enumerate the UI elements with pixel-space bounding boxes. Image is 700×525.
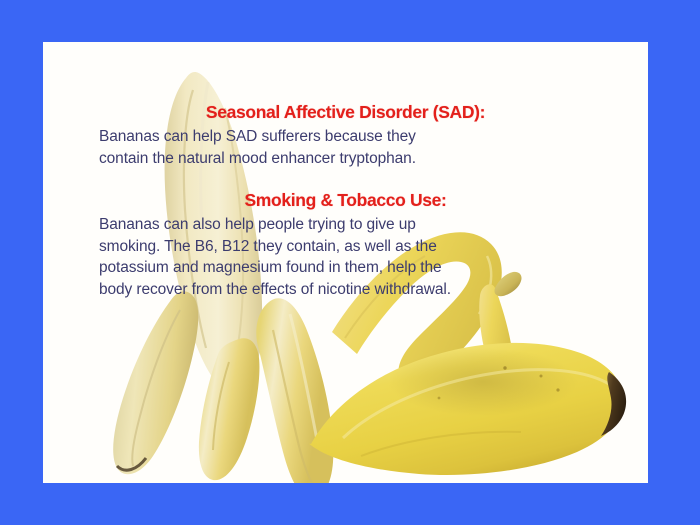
section-heading-sad: Seasonal Affective Disorder (SAD): xyxy=(43,102,648,123)
section-seasonal-affective-disorder: Seasonal Affective Disorder (SAD): Banan… xyxy=(43,102,648,169)
section-body-sad: Bananas can help SAD sufferers because t… xyxy=(43,126,648,169)
section-smoking-tobacco-use: Smoking & Tobacco Use: Bananas can also … xyxy=(43,190,648,300)
body-line: body recover from the effects of nicotin… xyxy=(99,279,593,301)
slide-frame: Seasonal Affective Disorder (SAD): Banan… xyxy=(0,0,700,525)
slide-canvas: Seasonal Affective Disorder (SAD): Banan… xyxy=(43,42,648,483)
section-body-smoking: Bananas can also help people trying to g… xyxy=(43,214,648,300)
body-line: Bananas can help SAD sufferers because t… xyxy=(99,126,593,148)
body-line: smoking. The B6, B12 they contain, as we… xyxy=(99,236,593,258)
text-layer: Seasonal Affective Disorder (SAD): Banan… xyxy=(43,42,648,483)
section-heading-smoking: Smoking & Tobacco Use: xyxy=(43,190,648,211)
body-line: potassium and magnesium found in them, h… xyxy=(99,257,593,279)
body-line: contain the natural mood enhancer trypto… xyxy=(99,148,593,170)
body-line: Bananas can also help people trying to g… xyxy=(99,214,593,236)
